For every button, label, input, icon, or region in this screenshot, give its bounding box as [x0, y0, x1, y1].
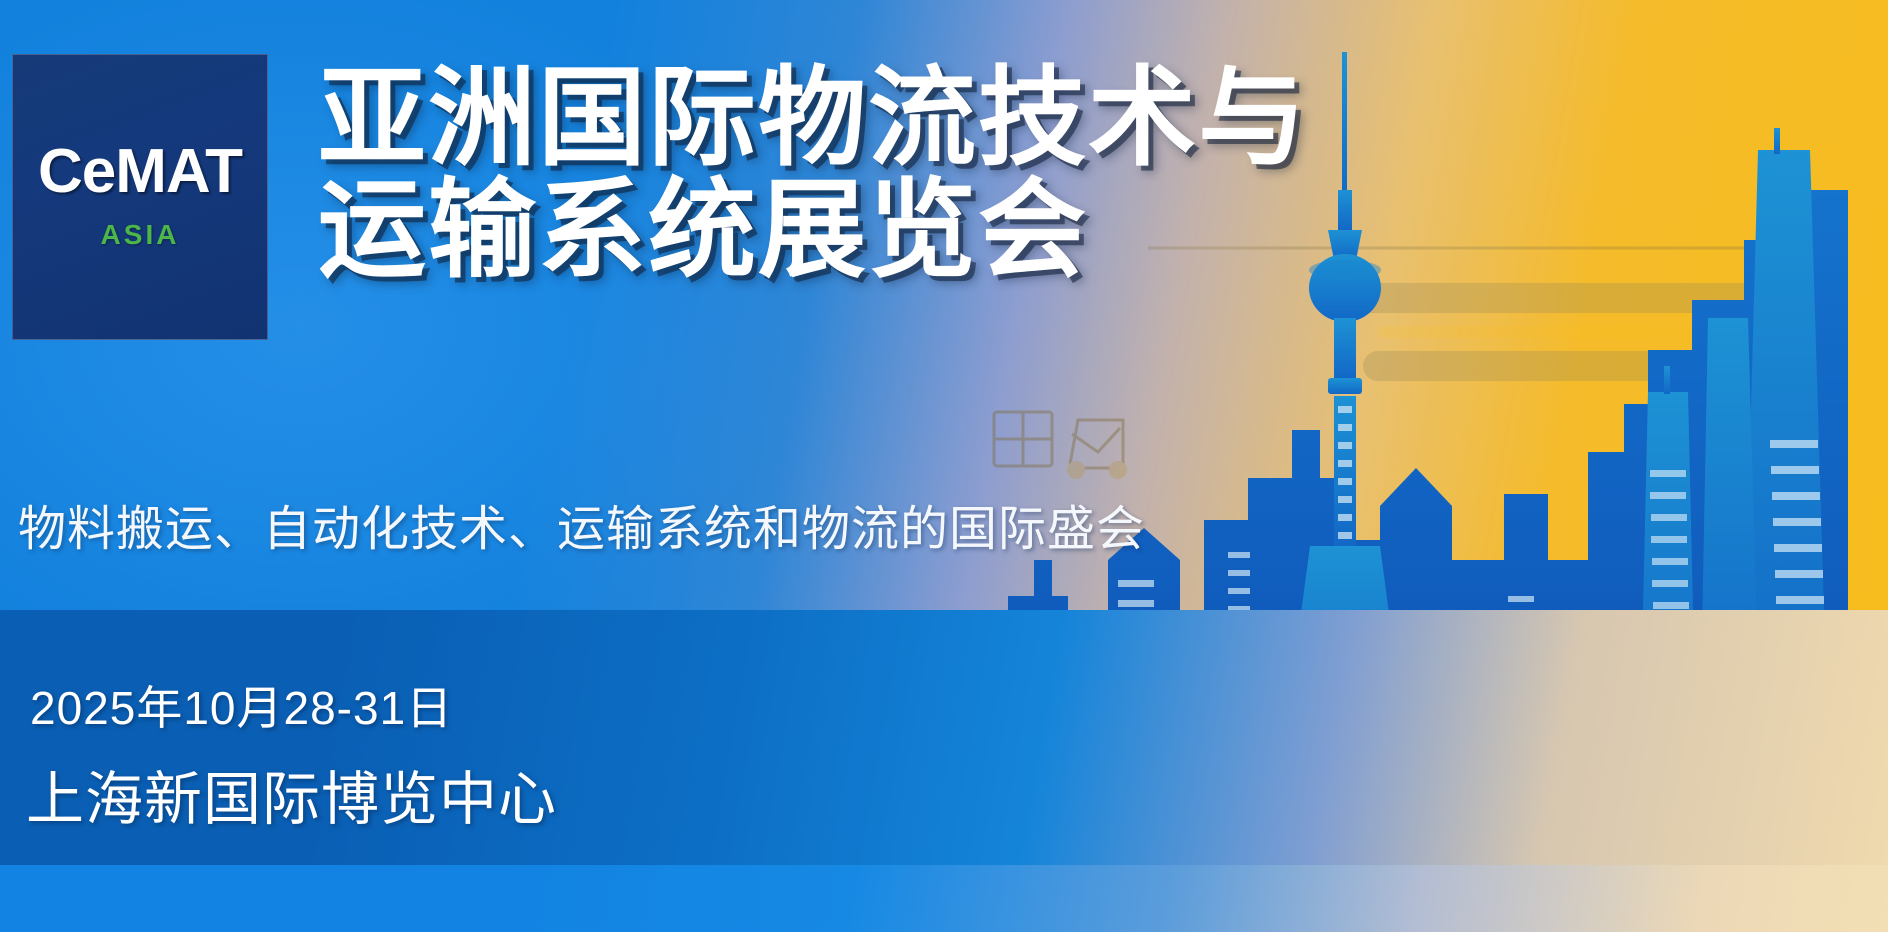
- bottom-blue-strip: [0, 865, 1888, 932]
- cemat-asia-logo: CeMAT ASIA: [12, 54, 268, 340]
- logo-region-label: ASIA: [101, 219, 180, 251]
- headline-line-2: 运输系统展览会: [318, 174, 1398, 286]
- event-date: 2025年10月28-31日: [30, 672, 453, 738]
- page-subtitle: 物料搬运、自动化技术、运输系统和物流的国际盛会: [18, 489, 1145, 559]
- event-venue: 上海新国际博览中心: [26, 752, 557, 836]
- logo-wordmark: CeMAT: [38, 141, 242, 203]
- page-title: 亚洲国际物流技术与 运输系统展览会: [318, 62, 1398, 287]
- headline-line-1: 亚洲国际物流技术与: [318, 62, 1398, 174]
- cemat-asia-banner: CeMAT ASIA 亚洲国际物流技术与 运输系统展览会 物料搬运、自动化技术、…: [0, 0, 1888, 932]
